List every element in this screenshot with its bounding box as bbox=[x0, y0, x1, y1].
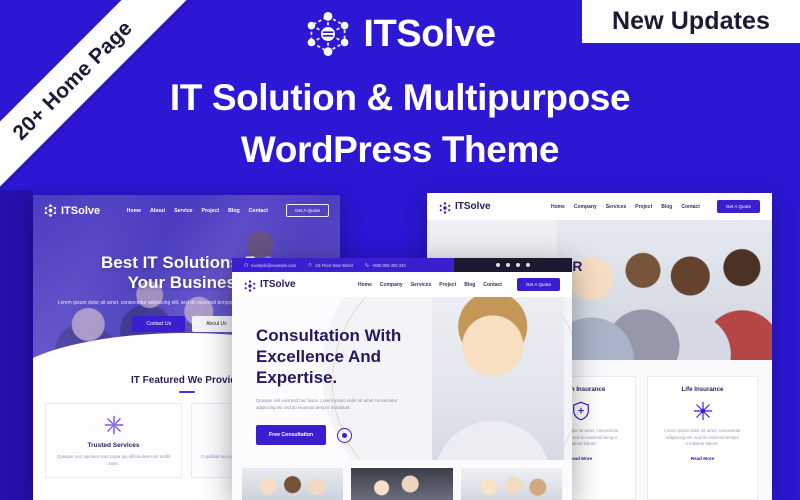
left-mockup-logo-text: ITSolve bbox=[61, 205, 100, 217]
topbar-address-text: 1st Floor New World bbox=[315, 263, 353, 268]
right-mockup-logo[interactable]: ITSolve bbox=[439, 201, 491, 213]
right-nav-item-2[interactable]: Services bbox=[606, 204, 627, 210]
linkedin-icon[interactable] bbox=[516, 263, 520, 267]
strip-photo bbox=[351, 468, 452, 500]
center-nav-item-4[interactable]: Blog bbox=[464, 282, 475, 288]
left-get-quote-button[interactable]: Get A Quote bbox=[286, 204, 329, 217]
left-nav-item-1[interactable]: About bbox=[150, 208, 165, 214]
center-mockup-topbar: example@example.com 1st Floor New World … bbox=[232, 258, 572, 272]
center-mockup-logo-text: ITSolve bbox=[260, 279, 296, 290]
phone-icon bbox=[365, 263, 369, 267]
ribbon-band: 20+ Home Page bbox=[0, 0, 206, 190]
service-card[interactable]: Life Insurance Lorem ipsum dolor sit ame… bbox=[647, 376, 758, 500]
center-hero-paragraph: Quisque nisl euismod hac fusce. Lorem ip… bbox=[256, 397, 418, 411]
left-nav-item-2[interactable]: Service bbox=[174, 208, 192, 214]
network-nodes-icon bbox=[44, 204, 57, 217]
promo-banner: ITSolve Home About Service Project Blog … bbox=[0, 0, 800, 500]
center-hero-title: Consultation With Excellence And Experti… bbox=[256, 325, 431, 388]
right-mockup-navbar[interactable]: ITSolve Home Company Services Project Bl… bbox=[427, 193, 772, 220]
right-nav-item-4[interactable]: Blog bbox=[661, 204, 672, 210]
life-star-icon bbox=[692, 400, 714, 422]
center-nav-item-0[interactable]: Home bbox=[358, 282, 372, 288]
strip-photo bbox=[242, 468, 343, 500]
service-card-title: Life Insurance bbox=[657, 386, 748, 393]
strip-photo bbox=[461, 468, 562, 500]
feature-card[interactable]: Trusted Services Quisque non aperiam sun… bbox=[45, 403, 182, 478]
play-dot bbox=[342, 433, 347, 438]
feature-card-title: Trusted Services bbox=[54, 442, 173, 449]
left-mockup-logo[interactable]: ITSolve bbox=[44, 204, 100, 217]
center-nav-item-5[interactable]: Contact bbox=[483, 282, 502, 288]
right-nav-item-3[interactable]: Project bbox=[635, 204, 652, 210]
topbar-email[interactable]: example@example.com bbox=[244, 263, 296, 268]
mail-icon bbox=[244, 263, 248, 267]
center-mockup-navbar[interactable]: ITSolve Home Company Services Project Bl… bbox=[232, 272, 572, 297]
left-nav-item-3[interactable]: Project bbox=[202, 208, 220, 214]
right-mockup-nav-links[interactable]: Home Company Services Project Blog Conta… bbox=[551, 200, 760, 213]
topbar-phone[interactable]: +880 000 400 343 bbox=[365, 263, 406, 268]
right-nav-item-1[interactable]: Company bbox=[574, 204, 597, 210]
new-updates-badge: New Updates bbox=[582, 0, 800, 43]
center-mockup-logo[interactable]: ITSolve bbox=[244, 279, 296, 291]
ribbon-text: 20+ Home Page bbox=[8, 16, 137, 145]
left-mockup-nav-links[interactable]: Home About Service Project Blog Contact … bbox=[127, 204, 329, 217]
network-nodes-icon bbox=[244, 279, 256, 291]
center-nav-item-3[interactable]: Project bbox=[439, 282, 456, 288]
topbar-address[interactable]: 1st Floor New World bbox=[308, 263, 353, 268]
network-nodes-icon bbox=[439, 201, 451, 213]
left-nav-item-0[interactable]: Home bbox=[127, 208, 141, 214]
new-updates-text: New Updates bbox=[612, 7, 770, 36]
instagram-icon[interactable] bbox=[526, 263, 530, 267]
center-hero-title-line3: Expertise. bbox=[256, 367, 431, 388]
left-nav-item-5[interactable]: Contact bbox=[249, 208, 268, 214]
free-consultation-button[interactable]: Free Consultation bbox=[256, 425, 326, 445]
twitter-icon[interactable] bbox=[506, 263, 510, 267]
center-nav-item-2[interactable]: Services bbox=[411, 282, 432, 288]
left-mockup-navbar[interactable]: ITSolve Home About Service Project Blog … bbox=[33, 204, 340, 217]
center-mockup-hero: Consultation With Excellence And Experti… bbox=[232, 297, 572, 460]
play-circle-icon[interactable] bbox=[337, 428, 352, 443]
right-get-quote-button[interactable]: Get A Quote bbox=[717, 200, 760, 213]
center-get-quote-button[interactable]: Get A Quote bbox=[517, 278, 560, 291]
center-mockup-nav-links[interactable]: Home Company Services Project Blog Conta… bbox=[358, 278, 560, 291]
center-mockup-photo-strip bbox=[232, 460, 572, 500]
center-hero-actions[interactable]: Free Consultation bbox=[256, 425, 572, 445]
service-card-text: Lorem ipsum dolor sit amet, consectetur … bbox=[657, 428, 748, 448]
center-hero-title-line1: Consultation With bbox=[256, 325, 431, 346]
snowflake-network-icon bbox=[103, 414, 125, 436]
corner-ribbon: 20+ Home Page bbox=[0, 0, 230, 190]
center-nav-item-1[interactable]: Company bbox=[380, 282, 403, 288]
right-mockup-logo-text: ITSolve bbox=[455, 201, 491, 212]
read-more-link[interactable]: Read More bbox=[657, 456, 748, 461]
topbar-phone-text: +880 000 400 343 bbox=[372, 263, 406, 268]
location-pin-icon bbox=[308, 263, 312, 267]
center-hero-title-line2: Excellence And bbox=[256, 346, 431, 367]
brand-name: ITSolve bbox=[363, 13, 495, 56]
topbar-social-links[interactable] bbox=[454, 258, 572, 272]
facebook-icon[interactable] bbox=[496, 263, 500, 267]
left-nav-item-4[interactable]: Blog bbox=[228, 208, 240, 214]
left-accent-strip bbox=[0, 190, 33, 500]
feature-card-text: Quisque non aperiam sunt culpa qui offic… bbox=[54, 453, 173, 467]
network-nodes-icon bbox=[304, 10, 352, 58]
topbar-email-text: example@example.com bbox=[251, 263, 296, 268]
right-nav-item-5[interactable]: Contact bbox=[681, 204, 700, 210]
right-nav-item-0[interactable]: Home bbox=[551, 204, 565, 210]
health-shield-icon bbox=[570, 400, 592, 422]
website-mockup-center[interactable]: example@example.com 1st Floor New World … bbox=[232, 258, 572, 500]
left-contact-us-button[interactable]: Contact Us bbox=[132, 316, 185, 332]
